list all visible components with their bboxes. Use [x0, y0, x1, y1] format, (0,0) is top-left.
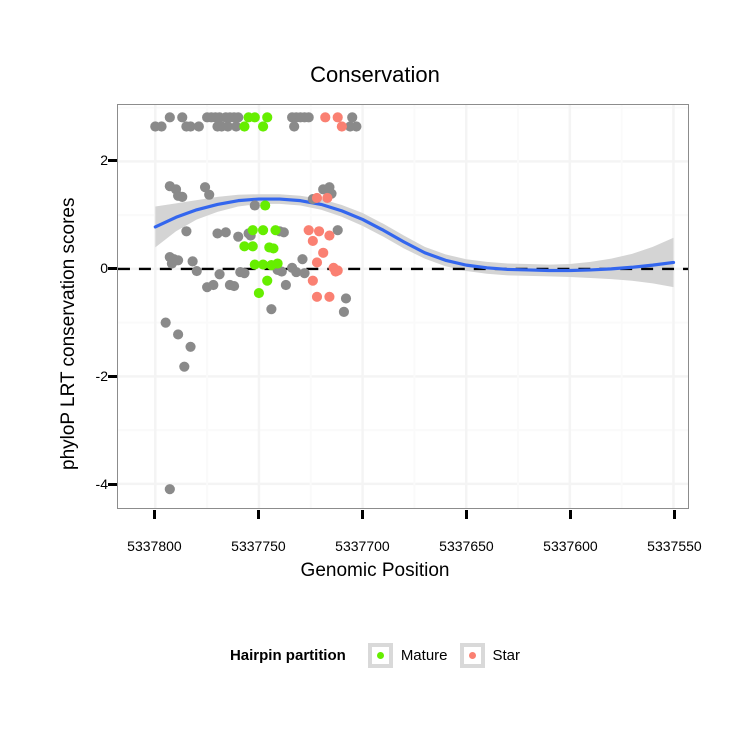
x-tick-label: 5337650 [411, 538, 521, 554]
x-tick-label: 5337700 [307, 538, 417, 554]
x-tick-label: 5337600 [515, 538, 625, 554]
x-tick-label: 5337800 [99, 538, 209, 554]
x-tickmark [153, 510, 156, 519]
scatter-points [118, 105, 688, 508]
legend-key-star [460, 643, 485, 668]
x-tickmark [465, 510, 468, 519]
y-tick-label: 2 [78, 152, 108, 168]
y-tick-label: 0 [78, 260, 108, 276]
legend-label-star: Star [493, 647, 521, 664]
x-tickmark [257, 510, 260, 519]
y-axis-title: phyloP LRT conservation scores [58, 198, 80, 471]
y-tickmark [108, 159, 117, 162]
y-tick-label: -2 [78, 368, 108, 384]
legend-key-mature [368, 643, 393, 668]
legend-dot-mature [377, 652, 384, 659]
y-tickmark [108, 375, 117, 378]
x-axis-title: Genomic Position [0, 560, 750, 582]
legend-dot-star [469, 652, 476, 659]
x-tickmark [569, 510, 572, 519]
y-tickmark [108, 483, 117, 486]
x-tick-label: 5337750 [203, 538, 313, 554]
chart-canvas: Conservation 533780053377505337700533765… [0, 0, 750, 750]
x-tick-label: 5337550 [619, 538, 729, 554]
x-tickmark [673, 510, 676, 519]
y-tickmark [108, 267, 117, 270]
plot-panel [117, 104, 689, 509]
x-tickmark [361, 510, 364, 519]
legend-item-star[interactable]: Star [460, 643, 521, 668]
legend-title: Hairpin partition [230, 647, 346, 664]
legend-label-mature: Mature [401, 647, 448, 664]
y-tick-label: -4 [78, 476, 108, 492]
legend: Hairpin partition Mature Star [0, 643, 750, 668]
page-title: Conservation [0, 62, 750, 88]
legend-item-mature[interactable]: Mature [368, 643, 448, 668]
